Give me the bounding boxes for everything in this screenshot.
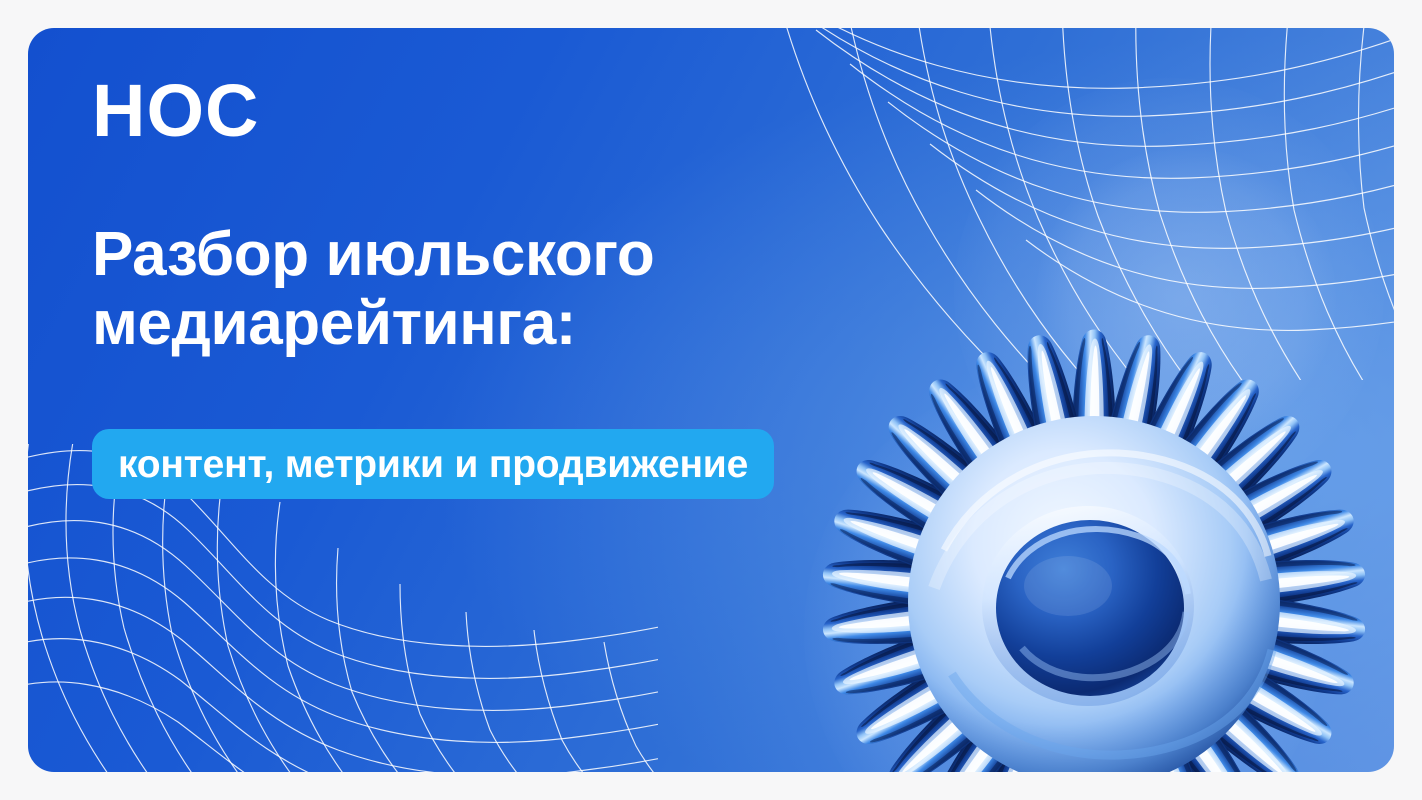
brand-logo: НОС <box>92 74 259 148</box>
glow-blob-2 <box>954 78 1384 508</box>
glow-blob-3 <box>804 372 1324 772</box>
page-title: Разбор июльского медиарейтинга: <box>92 220 932 359</box>
subtitle-pill-label: контент, метрики и продвижение <box>118 445 748 484</box>
gear-blades <box>821 330 1368 773</box>
glow-blob-1 <box>1036 148 1336 448</box>
subtitle-pill: контент, метрики и продвижение <box>92 429 774 499</box>
hero-card: НОС Разбор июльского медиарейтинга: конт… <box>28 28 1394 772</box>
slide-canvas: НОС Разбор июльского медиарейтинга: конт… <box>0 0 1422 800</box>
